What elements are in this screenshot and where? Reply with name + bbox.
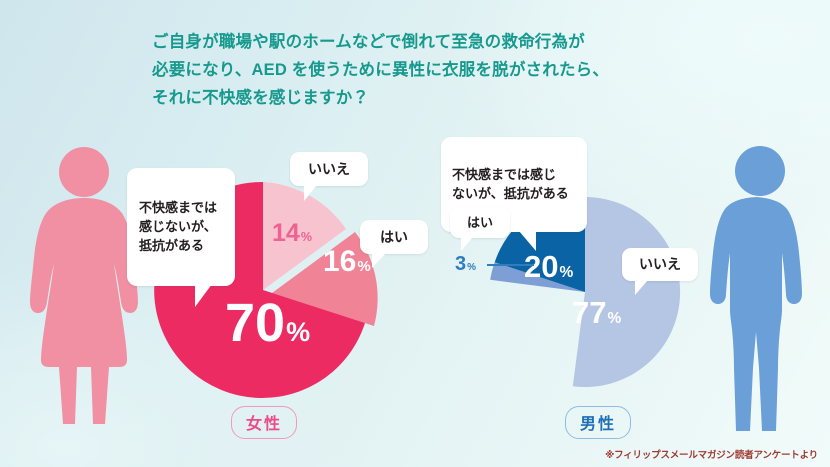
gender-badge-male: 男性 [565, 406, 631, 439]
leader-line-male-3 [487, 264, 534, 266]
callout-tail [195, 284, 212, 307]
callout-female-no-text: いいえ [308, 161, 350, 177]
male-silhouette-icon [706, 142, 814, 434]
callout-male-no-text: いいえ [639, 256, 681, 272]
callout-female-yes: はい [360, 220, 428, 254]
pie-value-male-3: 3% [455, 254, 476, 274]
gender-badge-female: 女性 [231, 406, 297, 439]
female-silhouette-icon [28, 142, 140, 434]
callout-male-no: いいえ [622, 248, 698, 281]
callout-tail [304, 185, 317, 201]
callout-tail [372, 253, 386, 268]
infographic-canvas: ご自身が職場や駅のホームなどで倒れて至急の救命行為が 必要になり、AED を使う… [0, 0, 830, 467]
callout-female-main: 不快感までは 感じないが、 抵抗がある [127, 168, 235, 286]
callout-male-yes: はい [450, 207, 510, 238]
page-title: ご自身が職場や駅のホームなどで倒れて至急の救命行為が 必要になり、AED を使う… [152, 28, 682, 112]
callout-male-main-text: 不快感までは感じ ないが、抵抗がある [452, 167, 569, 201]
callout-male-yes-text: はい [467, 215, 493, 230]
callout-tail [461, 237, 473, 251]
callout-female-yes-text: はい [380, 229, 408, 245]
callout-female-main-text: 不快感までは 感じないが、 抵抗がある [139, 200, 217, 253]
callout-tail [519, 231, 536, 251]
pie-slice-male-77 [573, 197, 680, 387]
source-footnote: ※フィリップスメールマガジン読者アンケートより [605, 447, 818, 461]
callout-female-no: いいえ [290, 152, 368, 186]
callout-tail [635, 280, 648, 295]
